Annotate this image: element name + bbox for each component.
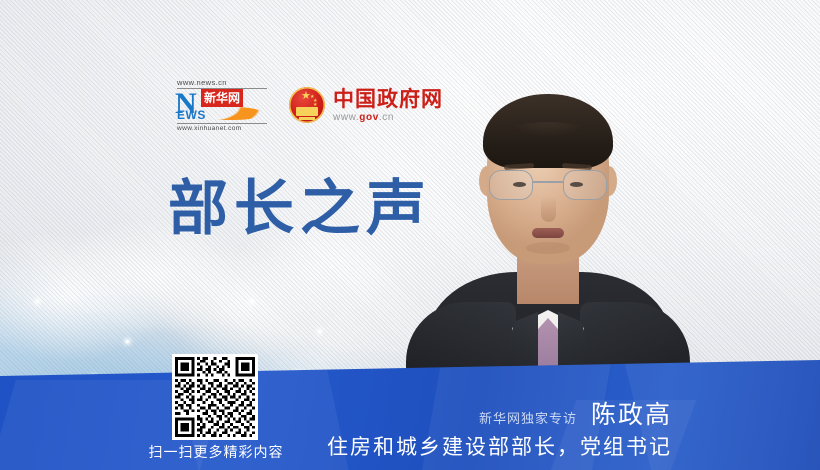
xinhua-net-logo[interactable]: www.news.cn N EWS 新华网 www.xinhuanet.com xyxy=(175,78,267,132)
banner-titles: 新华网独家专访 陈政高 住房和城乡建设部部长，党组书记 xyxy=(327,400,672,462)
qr-code[interactable] xyxy=(172,354,258,440)
xinhua-ews-letters: EWS xyxy=(177,108,206,122)
qr-code-image xyxy=(175,357,255,437)
national-emblem-icon: ★★ ★★ ★ xyxy=(289,87,325,123)
gov-url-mid: gov xyxy=(359,112,379,123)
xinhua-swoosh-icon xyxy=(205,107,263,120)
xinhua-cn-badge: 新华网 xyxy=(201,89,243,107)
hair xyxy=(483,94,613,168)
xinhua-bottom-url: www.xinhuanet.com xyxy=(177,123,267,132)
qr-caption: 扫一扫更多精彩内容 xyxy=(146,442,286,462)
banner-line-1: 新华网独家专访 陈政高 xyxy=(327,400,672,430)
gov-url-prefix: www. xyxy=(333,112,359,123)
page-title: 部长之声 xyxy=(168,176,432,242)
gov-url-suffix: .cn xyxy=(379,112,394,123)
person-title: 住房和城乡建设部部长，党组书记 xyxy=(327,432,672,462)
exclusive-label: 新华网独家专访 xyxy=(479,408,577,427)
xinhua-mark: N EWS 新华网 xyxy=(175,89,267,120)
interview-poster: www.news.cn N EWS 新华网 www.xinhuanet.com … xyxy=(0,0,820,470)
person-name: 陈政高 xyxy=(591,400,672,430)
